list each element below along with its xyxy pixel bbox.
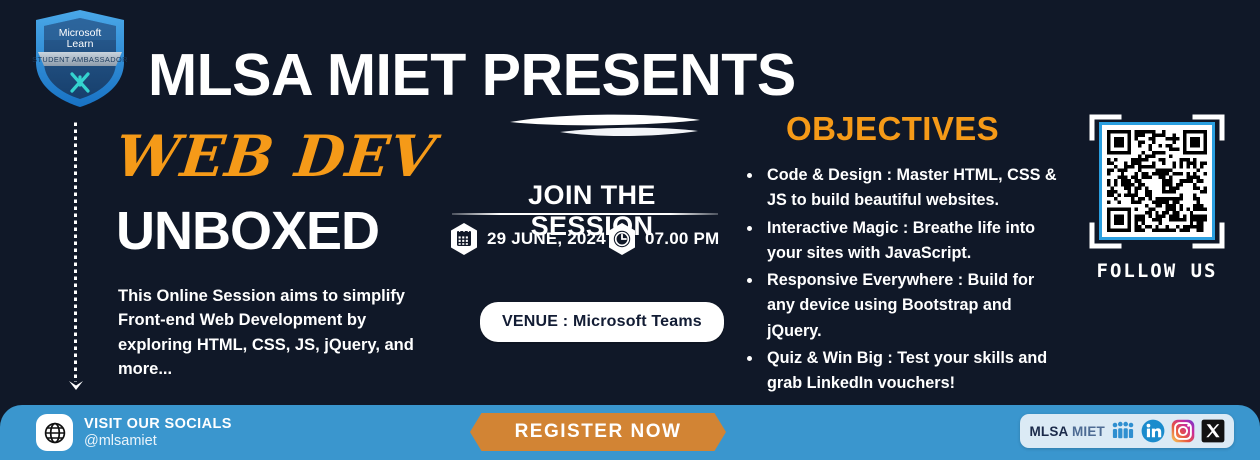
follow-us-label: FOLLOW US <box>1078 260 1236 282</box>
list-item: Responsive Everywhere : Build for any de… <box>763 268 1062 344</box>
clock-icon <box>606 222 638 256</box>
register-now-button[interactable]: REGISTER NOW <box>470 413 726 451</box>
qr-section: FOLLOW US <box>1078 108 1236 293</box>
dotted-line-decoration <box>74 122 77 382</box>
footer-bar: VISIT OUR SOCIALS @mlsamiet REGISTER NOW… <box>0 405 1260 460</box>
list-item: Quiz & Win Big : Test your skills and gr… <box>763 346 1062 397</box>
socials-text: VISIT OUR SOCIALS @mlsamiet <box>84 416 232 448</box>
venue-badge: VENUE : Microsoft Teams <box>480 302 724 342</box>
session-date: 29 JUNE, 2024 <box>448 222 606 256</box>
objectives-title: OBJECTIVES <box>786 110 999 148</box>
brush-swoosh-icon <box>508 112 704 140</box>
mlsa-shield-badge: Microsoft Learn STUDENT AMBASSADOR <box>28 6 132 110</box>
qr-code-image <box>1107 130 1207 232</box>
svg-text:STUDENT AMBASSADOR: STUDENT AMBASSADOR <box>32 55 128 64</box>
brand-name: MLSA MIET <box>1029 424 1105 439</box>
event-script-title: WEB DEV <box>113 128 439 185</box>
session-time: 07.00 PM <box>606 222 719 256</box>
globe-glyph-icon <box>43 421 67 445</box>
shield-icon: Microsoft Learn STUDENT AMBASSADOR <box>28 6 132 110</box>
community-icon[interactable] <box>1111 419 1135 443</box>
visit-socials-block[interactable]: VISIT OUR SOCIALS @mlsamiet <box>36 414 232 451</box>
event-description: This Online Session aims to simplify Fro… <box>118 284 423 382</box>
svg-text:Learn: Learn <box>67 38 94 50</box>
x-icon[interactable] <box>1201 419 1225 443</box>
objectives-list: Code & Design : Master HTML, CSS & JS to… <box>742 163 1062 398</box>
page-title: MLSA MIET PRESENTS <box>148 46 796 105</box>
session-meta: 29 JUNE, 2024 07.00 PM <box>448 222 722 258</box>
divider <box>452 213 718 215</box>
globe-icon <box>36 414 73 451</box>
qr-code[interactable] <box>1099 122 1215 240</box>
event-title: UNBOXED <box>116 204 379 258</box>
linkedin-icon[interactable] <box>1141 419 1165 443</box>
arrow-down-icon <box>68 380 84 392</box>
event-poster: Microsoft Learn STUDENT AMBASSADOR MLSA … <box>0 0 1260 460</box>
list-item: Interactive Magic : Breathe life into yo… <box>763 216 1062 267</box>
calendar-icon <box>448 222 480 256</box>
list-item: Code & Design : Master HTML, CSS & JS to… <box>763 163 1062 214</box>
socials-handle: @mlsamiet <box>84 433 232 449</box>
socials-title: VISIT OUR SOCIALS <box>84 416 232 432</box>
instagram-icon[interactable] <box>1171 419 1195 443</box>
session-time-text: 07.00 PM <box>645 229 719 249</box>
session-date-text: 29 JUNE, 2024 <box>487 229 606 249</box>
brand-socials-pill[interactable]: MLSA MIET <box>1020 414 1234 448</box>
